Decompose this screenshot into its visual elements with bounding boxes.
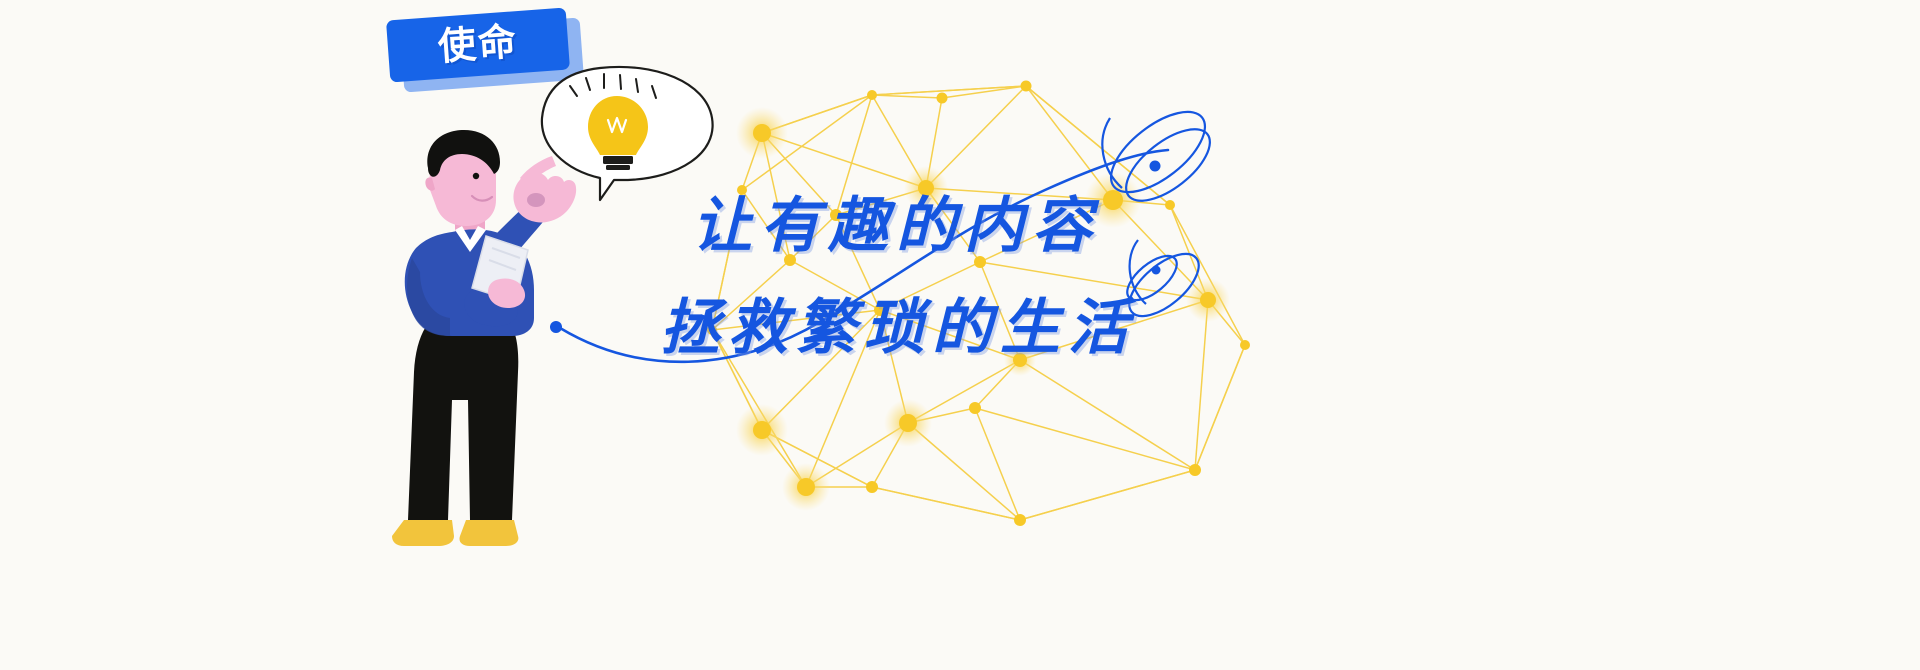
shoe-left: [392, 520, 454, 546]
shoe-right: [459, 520, 518, 546]
pointing-person: [0, 0, 1920, 670]
trousers: [408, 308, 518, 520]
eye: [473, 173, 479, 179]
mission-banner: 使命 让有趣的内容 拯救繁琐的生活: [0, 0, 1920, 670]
